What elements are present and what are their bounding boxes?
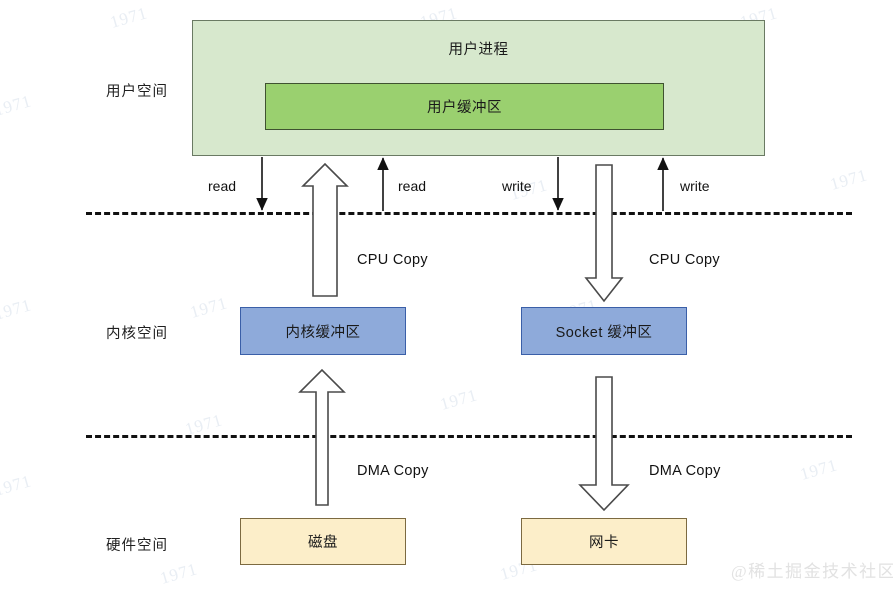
watermark-tile: 1971: [438, 385, 480, 415]
label-read-down: read: [208, 178, 236, 194]
watermark-tile: 1971: [108, 3, 150, 33]
kernel-boundary-line-upper: [86, 212, 852, 215]
box-kernel-buffer[interactable]: 内核缓冲区: [240, 307, 406, 355]
watermark-tile: 1971: [828, 165, 870, 195]
box-network-card[interactable]: 网卡: [521, 518, 687, 565]
watermark-tile: 1971: [188, 293, 230, 323]
block-arrow-cpu-copy-right: [586, 165, 622, 301]
block-arrow-dma-copy-right: [580, 377, 628, 510]
box-user-buffer-label: 用户缓冲区: [427, 96, 502, 117]
watermark-tile: 1971: [0, 471, 34, 501]
box-socket-buffer-label: Socket 缓冲区: [556, 321, 653, 342]
watermark-brand: @稀土掘金技术社区: [731, 557, 893, 582]
label-write-up: write: [680, 178, 710, 194]
label-write-down: write: [502, 178, 532, 194]
box-user-process-label: 用户进程: [449, 38, 509, 59]
label-dma-copy-left: DMA Copy: [357, 463, 429, 479]
box-network-card-label: 网卡: [589, 531, 619, 552]
label-dma-copy-right: DMA Copy: [649, 463, 721, 479]
watermark-tile: 1971: [0, 91, 34, 121]
watermark-tile: 1971: [0, 295, 34, 325]
zone-label-user-space: 用户空间: [106, 80, 168, 101]
box-socket-buffer[interactable]: Socket 缓冲区: [521, 307, 687, 355]
box-kernel-buffer-label: 内核缓冲区: [286, 321, 361, 342]
watermark-tile: 1971: [798, 455, 840, 485]
watermark-tile: 1971: [158, 559, 200, 589]
kernel-boundary-line-lower: [86, 435, 852, 438]
box-disk-label: 磁盘: [308, 531, 338, 552]
diagram-canvas: 1971 1971 1971 1971 1971 1971 1971 1971 …: [0, 0, 893, 590]
label-cpu-copy-right: CPU Copy: [649, 252, 720, 268]
zone-label-hardware-space: 硬件空间: [106, 534, 168, 555]
label-cpu-copy-left: CPU Copy: [357, 252, 428, 268]
label-read-up: read: [398, 178, 426, 194]
block-arrow-cpu-copy-left: [303, 164, 347, 296]
box-user-buffer[interactable]: 用户缓冲区: [265, 83, 664, 130]
zone-label-kernel-space: 内核空间: [106, 322, 168, 343]
box-disk[interactable]: 磁盘: [240, 518, 406, 565]
